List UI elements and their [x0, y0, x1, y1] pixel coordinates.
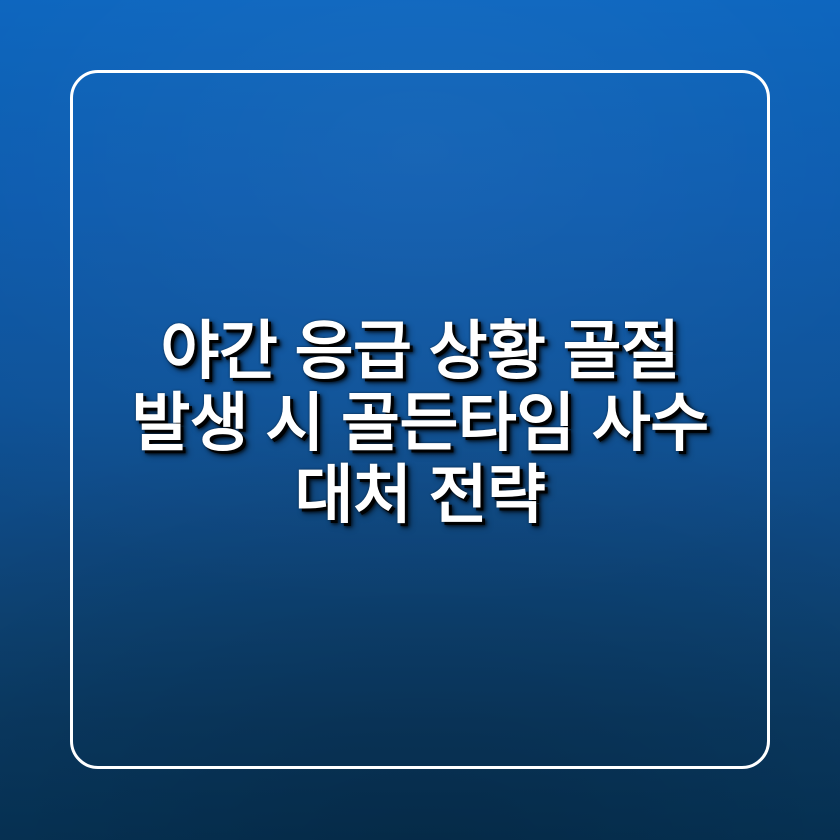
headline-line-3: 대처 전략 [0, 459, 840, 531]
headline-line-2: 발생 시 골든타임 사수 [0, 387, 840, 459]
thumbnail-card: 야간 응급 상황 골절 발생 시 골든타임 사수 대처 전략 [0, 0, 840, 840]
headline-block: 야간 응급 상황 골절 발생 시 골든타임 사수 대처 전략 [0, 0, 840, 840]
headline-line-1: 야간 응급 상황 골절 [0, 315, 840, 387]
